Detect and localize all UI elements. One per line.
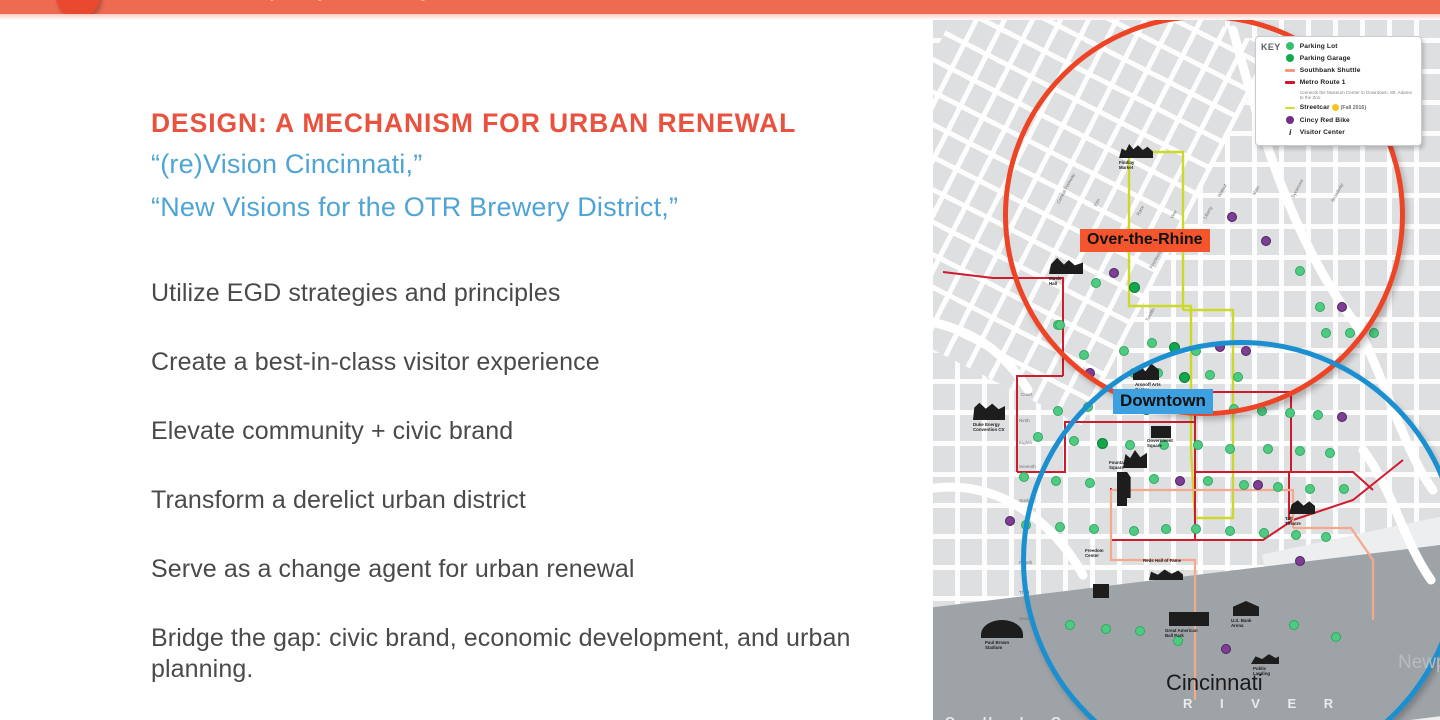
info-i-icon: i [1285,127,1296,137]
yellow-line-icon [1285,103,1296,113]
list-item: Bridge the gap: civic brand, economic de… [151,623,931,685]
legend-item-parking-lot: Parking Lot [1285,41,1416,51]
list-item: Transform a derelict urban district [151,485,931,516]
legend-note: connects the Museum Center to Downtown, … [1300,90,1416,101]
city-label-newport: Newp [1398,652,1440,674]
legend-item-parking-garage: Parking Garage [1285,53,1416,63]
legend-sublabel: (Fall 2016) [1341,105,1366,111]
cincinnati-map: O H I O R I V E R [933,20,1440,720]
purple-dot-icon [1285,115,1296,125]
legend-label: Streetcar [1300,104,1330,111]
legend-item-southbank-shuttle: Southbank Shuttle [1285,65,1416,75]
district-label-downtown: Downtown [1113,389,1213,414]
orange-line-icon [1285,65,1296,75]
legend-label: Parking Garage [1300,55,1351,62]
list-item: Utilize EGD strategies and principles [151,278,931,309]
top-banner: Wayfinding & Placemaking [0,0,1440,14]
streetcar-badge-icon [1332,104,1339,111]
legend-label: Southbank Shuttle [1300,67,1361,74]
map-legend: KEY Parking Lot Parking Garage Southbank… [1255,36,1422,146]
list-item: Serve as a change agent for urban renewa… [151,554,931,585]
legend-item-metro-route-1: Metro Route 1 [1285,78,1416,88]
circle-logo [56,0,100,14]
banner-title: Wayfinding & Placemaking [250,0,428,1]
subtitle-line-1: “(re)Vision Cincinnati,” [151,149,931,180]
legend-label: Visitor Center [1300,129,1345,136]
bullet-list: Utilize EGD strategies and principles Cr… [151,278,931,685]
green-dot-garage-icon [1285,53,1296,63]
legend-label: Cincy Red Bike [1300,117,1350,124]
city-label-cincinnati: Cincinnati [1166,670,1263,696]
list-item: Create a best-in-class visitor experienc… [151,347,931,378]
green-dot-icon [1285,41,1296,51]
red-line-icon [1285,78,1296,88]
legend-label: Metro Route 1 [1300,79,1346,86]
legend-item-visitor-center: i Visitor Center [1285,127,1416,137]
legend-title: KEY [1261,41,1281,52]
list-item: Elevate community + civic brand [151,416,931,447]
legend-item-cincy-red-bike: Cincy Red Bike [1285,115,1416,125]
legend-item-streetcar: Streetcar (Fall 2016) [1285,103,1416,113]
slide-content: DESIGN: A MECHANISM FOR URBAN RENEWAL “(… [0,20,933,720]
legend-label: Parking Lot [1300,43,1338,50]
district-label-over-the-rhine: Over-the-Rhine [1080,229,1210,252]
subtitle-line-2: “New Visions for the OTR Brewery Distric… [151,192,931,223]
page-title: DESIGN: A MECHANISM FOR URBAN RENEWAL [151,108,911,139]
